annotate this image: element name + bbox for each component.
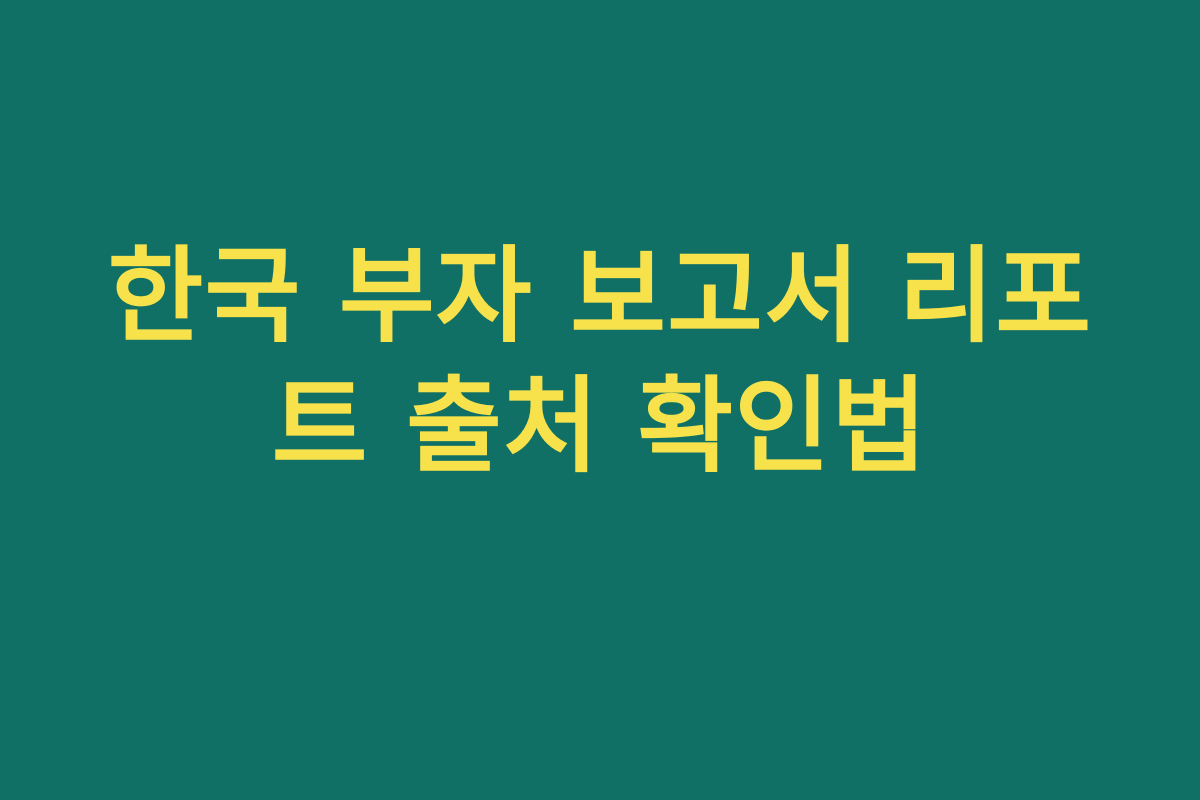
title-line-1: 한국 부자 보고서 리포 [108,233,1093,361]
title-block: 한국 부자 보고서 리포 트 출처 확인법 [100,233,1100,491]
thumbnail-card: 한국 부자 보고서 리포 트 출처 확인법 [0,0,1200,800]
title-line-2: 트 출처 확인법 [272,363,928,491]
